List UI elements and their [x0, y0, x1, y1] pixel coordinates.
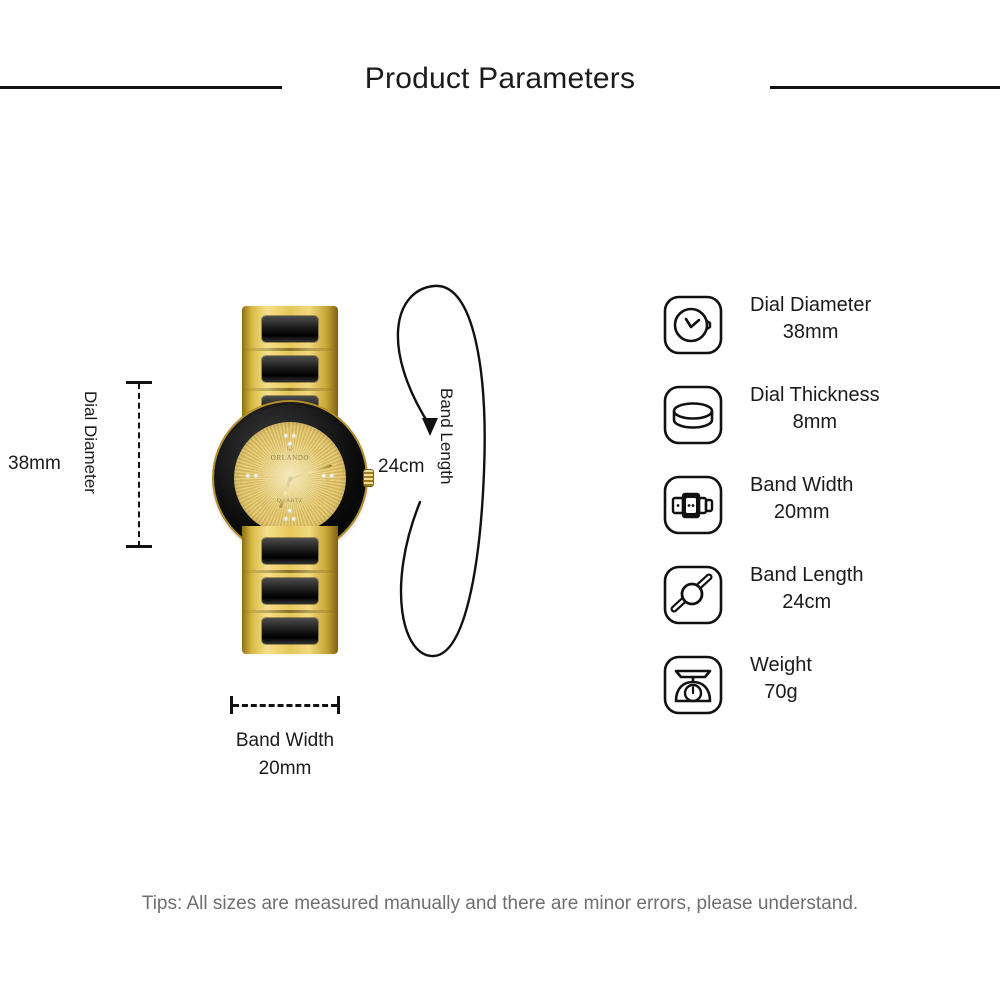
- band-seam: [242, 570, 338, 573]
- crystal-marker: [288, 509, 292, 513]
- watch-movement-text: QUARTZ: [277, 498, 303, 504]
- band-length-value: 24cm: [378, 456, 424, 478]
- band-width-value: 20mm: [180, 758, 390, 780]
- spec-row-band-length: Band Length 24cm: [662, 562, 992, 652]
- dial-diameter-label: Dial Diameter: [80, 391, 100, 551]
- band-seam: [242, 388, 338, 391]
- dial-diameter-dimension: Dial Diameter 38mm: [30, 375, 170, 555]
- band-link: [262, 538, 318, 564]
- page-title: Product Parameters: [0, 62, 1000, 96]
- crystal-marker: [322, 474, 326, 478]
- dimension-cap-right: [337, 696, 340, 714]
- crystal-marker: [246, 474, 250, 478]
- spec-label: Dial Diameter: [750, 292, 871, 319]
- crystal-marker: [284, 517, 288, 521]
- crystal-marker: [292, 517, 296, 521]
- dimension-line-vertical: [138, 383, 140, 547]
- spec-label: Band Width: [750, 472, 853, 499]
- band-length-label: Band Length: [436, 388, 456, 484]
- hour-hand: [280, 479, 292, 508]
- band-seam: [242, 348, 338, 351]
- band-link: [262, 316, 318, 342]
- band-width-label: Band Width: [180, 730, 390, 752]
- spec-label: Weight: [750, 652, 812, 679]
- watch-band-bottom: [242, 526, 338, 654]
- band-link: [262, 578, 318, 604]
- spec-text-weight: Weight 70g: [750, 652, 812, 706]
- band-link: [262, 618, 318, 644]
- spec-value: 70g: [750, 679, 812, 706]
- crystal-marker: [288, 442, 292, 446]
- watch-product-image: ♤ ORLANDO QUARTZ: [214, 306, 366, 654]
- watch-dial-icon: [662, 294, 724, 356]
- band-width-measure-line: [230, 696, 340, 714]
- spec-row-dial-diameter: Dial Diameter 38mm: [662, 292, 992, 382]
- spec-list: Dial Diameter 38mm Dial Thickness 8mm: [662, 292, 992, 742]
- band-length-dimension: Band Length 24cm: [372, 276, 612, 666]
- crystal-marker: [292, 434, 296, 438]
- spec-value: 38mm: [750, 319, 871, 346]
- spec-row-weight: Weight 70g: [662, 652, 992, 742]
- spec-row-band-width: Band Width 20mm: [662, 472, 992, 562]
- spec-label: Dial Thickness: [750, 382, 880, 409]
- spec-value: 24cm: [750, 589, 863, 616]
- spec-value: 20mm: [750, 499, 853, 526]
- spec-text-band-width: Band Width 20mm: [750, 472, 853, 526]
- spec-text-dial-diameter: Dial Diameter 38mm: [750, 292, 871, 346]
- product-parameters-page: Product Parameters Dial Diameter 38mm ♤ …: [0, 0, 1000, 1000]
- watch-dial: ♤ ORLANDO QUARTZ: [234, 422, 346, 534]
- dial-diameter-value: 38mm: [8, 453, 61, 475]
- band-link: [262, 356, 318, 382]
- band-loop-icon: [662, 564, 724, 626]
- minute-hand: [290, 464, 332, 479]
- dimension-line-horizontal: [233, 704, 337, 707]
- band-width-dimension: Band Width 20mm: [180, 696, 390, 780]
- hand-pivot: [288, 476, 293, 481]
- band-seam: [242, 610, 338, 613]
- spec-text-dial-thickness: Dial Thickness 8mm: [750, 382, 880, 436]
- crystal-marker: [330, 474, 334, 478]
- crystal-marker: [254, 474, 258, 478]
- brand-logo-icon: ♤: [286, 444, 294, 453]
- spec-value: 8mm: [750, 409, 880, 436]
- kitchen-scale-icon: [662, 654, 724, 716]
- strap-buckle-icon: [662, 474, 724, 536]
- watch-brand-name: ORLANDO: [271, 454, 309, 462]
- dimension-cap-bottom: [126, 545, 152, 548]
- tips-text: Tips: All sizes are measured manually an…: [0, 893, 1000, 915]
- header-rule-right: [770, 86, 1000, 89]
- spec-label: Band Length: [750, 562, 863, 589]
- spec-row-dial-thickness: Dial Thickness 8mm: [662, 382, 992, 472]
- crystal-marker: [284, 434, 288, 438]
- disc-thickness-icon: [662, 384, 724, 446]
- spec-text-band-length: Band Length 24cm: [750, 562, 863, 616]
- page-header: Product Parameters: [0, 62, 1000, 114]
